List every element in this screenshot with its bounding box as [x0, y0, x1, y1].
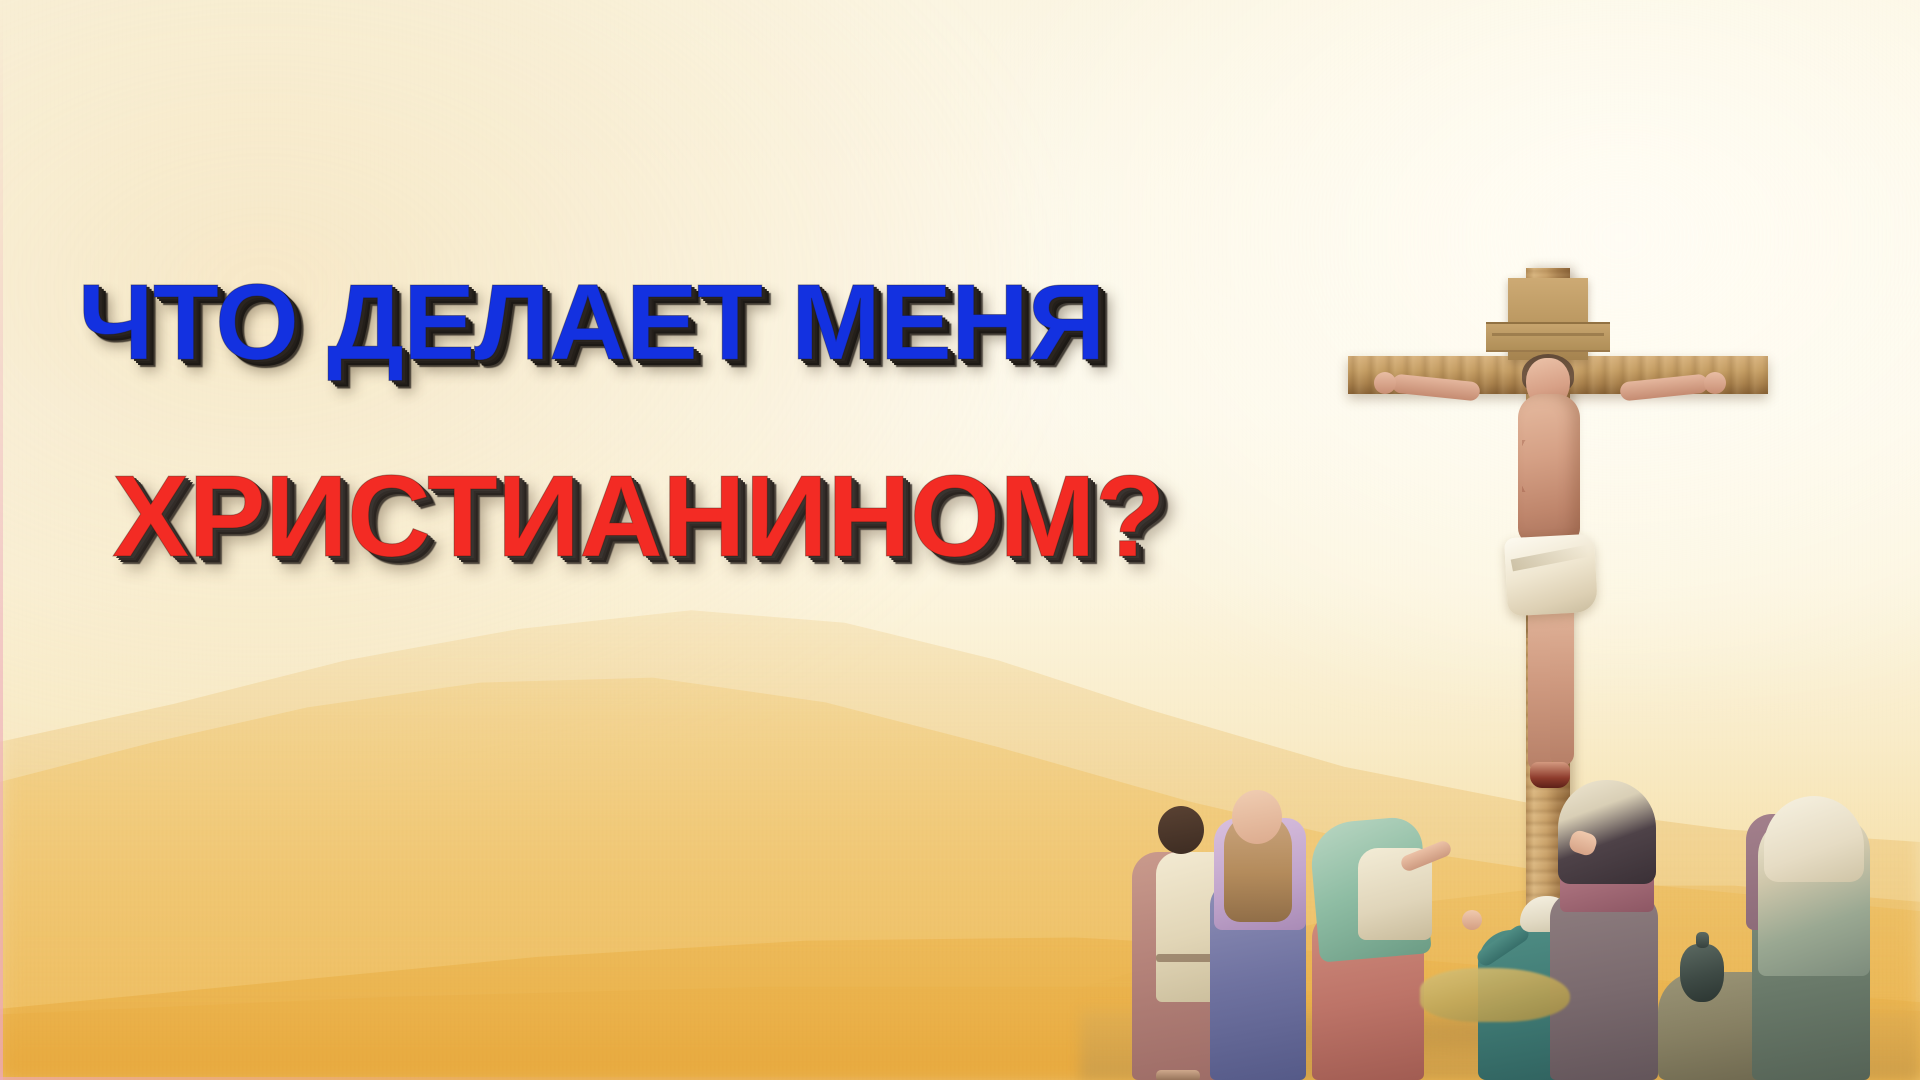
mourner-standing-woman-dark-veil [1550, 780, 1674, 1080]
frame-edge-left [0, 0, 3, 1080]
title-line-2: ХРИСТИАНИНОМ? [112, 458, 1198, 574]
head [1232, 790, 1282, 844]
robe [1550, 892, 1658, 1080]
mourners-at-foot-of-cross [1080, 750, 1920, 1080]
christ-right-leg [1550, 600, 1574, 766]
christ-loincloth [1504, 534, 1598, 617]
christ-right-arm [1619, 373, 1709, 401]
christ-wounds [1522, 440, 1576, 492]
crucifixion-scene [1120, 0, 1920, 1080]
titulus-inscription-plate [1486, 322, 1610, 352]
christ-left-arm [1391, 373, 1481, 401]
christ-left-leg [1528, 600, 1552, 772]
white-veil [1764, 796, 1864, 882]
mourner-bowed-woman-green-veil [1312, 822, 1442, 1080]
title-block: ЧТО ДЕЛАЕТ МЕНЯ ХРИСТИАНИНОМ? [78, 268, 1198, 574]
mourner-standing-woman-white-veil [1752, 798, 1884, 1080]
christ-right-hand [1704, 372, 1726, 394]
dark-veil [1558, 780, 1656, 884]
title-line-1: ЧТО ДЕЛАЕТ МЕНЯ [78, 268, 1198, 376]
straw-at-cross-base [1420, 968, 1570, 1022]
head [1158, 806, 1204, 854]
mourner-woman-lilac-shawl [1210, 788, 1320, 1080]
slide-canvas: ЧТО ДЕЛАЕТ МЕНЯ ХРИСТИАНИНОМ? [0, 0, 1920, 1080]
titulus-plaque [1508, 278, 1588, 360]
raised-right-hand [1462, 910, 1482, 930]
ointment-jar [1680, 944, 1724, 1002]
crucified-christ-figure [1466, 364, 1634, 794]
christ-left-hand [1374, 372, 1396, 394]
